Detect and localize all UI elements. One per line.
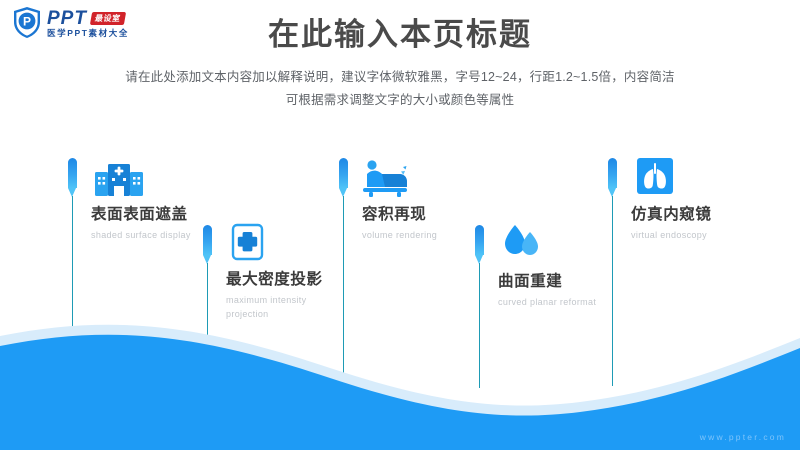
marker-pin [608, 158, 617, 197]
feature-title: 仿真内窥镜 [631, 206, 712, 225]
medical-card-cross-icon [231, 223, 264, 261]
feature-subtitle-line-1: shaded surface display [91, 229, 191, 243]
feature-text-block: 仿真内窥镜 virtual endoscopy [631, 206, 712, 243]
marker-pin [339, 158, 348, 197]
ct-scanner-patient-icon [359, 158, 411, 198]
page-subtitle: 请在此处添加文本内容加以解释说明，建议字体微软雅黑，字号12~24，行距1.2~… [0, 66, 800, 112]
slide-root: P PPT 最设室 医学PPT素材大全 在此输入本页标题 请在此处添加文本内容加… [0, 0, 800, 450]
marker-head [203, 225, 212, 255]
wave-foreground-layer [0, 290, 800, 450]
subtitle-line-1: 请在此处添加文本内容加以解释说明，建议字体微软雅黑，字号12~24，行距1.2~… [0, 66, 800, 89]
feature-title: 容积再现 [362, 206, 437, 225]
hospital-building-icon [93, 158, 145, 198]
marker-pin [203, 225, 212, 264]
marker-head [339, 158, 348, 188]
feature-title: 最大密度投影 [226, 271, 323, 290]
feature-subtitle-line-1: volume rendering [362, 229, 437, 243]
marker-pin [475, 225, 484, 264]
footer-url: www.ppter.com [700, 432, 786, 442]
page-title: 在此输入本页标题 [0, 16, 800, 55]
feature-title: 曲面重建 [498, 273, 596, 292]
feature-subtitle-line-1: virtual endoscopy [631, 229, 712, 243]
subtitle-line-2: 可根据需求调整文字的大小或颜色等属性 [0, 89, 800, 112]
marker-head [475, 225, 484, 255]
marker-head [608, 158, 617, 188]
marker-head [68, 158, 77, 188]
feature-text-block: 容积再现 volume rendering [362, 206, 437, 243]
feature-text-block: 表面表面遮盖 shaded surface display [91, 206, 191, 243]
water-droplets-icon [501, 221, 543, 263]
lungs-icon [636, 157, 674, 195]
marker-pin [68, 158, 77, 197]
feature-title: 表面表面遮盖 [91, 206, 191, 225]
